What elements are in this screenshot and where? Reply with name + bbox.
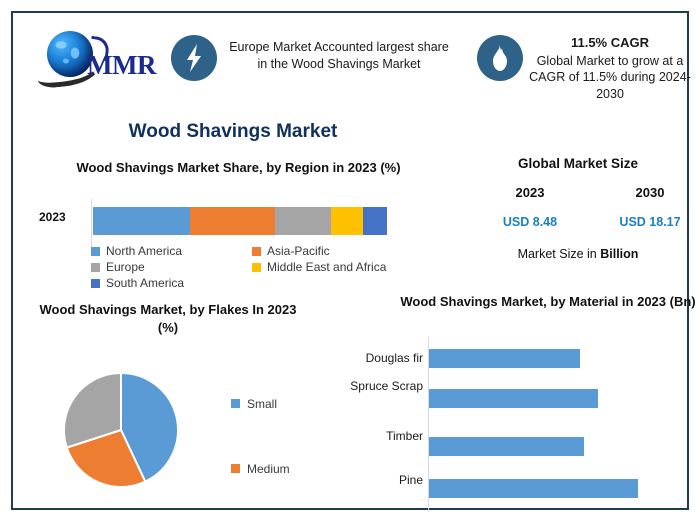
share-segment-middle-east-africa bbox=[331, 207, 363, 235]
gms-value-2030: USD 18.17 bbox=[605, 215, 695, 229]
global-market-size-title: Global Market Size bbox=[453, 156, 700, 171]
pie-legend-item-small: Small bbox=[231, 371, 290, 436]
brand-name: MMR bbox=[87, 50, 156, 81]
share-segment-south-america bbox=[363, 207, 387, 235]
material-bar-douglas-fir bbox=[429, 349, 580, 368]
legend-item-middle-east-africa: Middle East and Africa bbox=[252, 260, 413, 274]
infographic-page: MMR Europe Market Accounted largest shar… bbox=[0, 0, 700, 521]
lightning-bolt-icon bbox=[171, 35, 217, 81]
legend-item-south-america: South America bbox=[91, 276, 252, 290]
share-chart-category-label: 2023 bbox=[39, 210, 66, 224]
flakes-pie-chart bbox=[61, 370, 181, 490]
gms-year-2023-label: 2023 bbox=[485, 185, 575, 200]
legend-swatch-asia-pacific bbox=[252, 247, 261, 256]
legend-swatch-south-america bbox=[91, 279, 100, 288]
pie-legend-swatch-medium bbox=[231, 464, 240, 473]
legend-item-europe: Europe bbox=[91, 260, 252, 274]
legend-swatch-north-america bbox=[91, 247, 100, 256]
gms-unit-bold: Billion bbox=[600, 247, 638, 261]
legend-item-north-america: North America bbox=[91, 244, 252, 258]
gms-unit-note: Market Size in Billion bbox=[453, 247, 700, 261]
share-chart-legend: North America Asia-Pacific Europe Middle… bbox=[91, 244, 413, 292]
share-segment-europe bbox=[275, 207, 331, 235]
share-segment-north-america bbox=[93, 207, 190, 235]
gms-year-2030-label: 2030 bbox=[605, 185, 695, 200]
share-chart-title: Wood Shavings Market Share, by Region in… bbox=[61, 159, 416, 177]
gms-unit-prefix: Market Size in bbox=[518, 247, 601, 261]
material-label-timber: Timber bbox=[303, 429, 423, 444]
share-segment-asia-pacific bbox=[190, 207, 275, 235]
legend-label-asia-pacific: Asia-Pacific bbox=[267, 244, 330, 258]
pie-legend-swatch-small bbox=[231, 399, 240, 408]
legend-label-north-america: North America bbox=[106, 244, 182, 258]
material-bar-pine bbox=[429, 479, 638, 498]
header-badge-2: 11.5% CAGR Global Market to grow at a CA… bbox=[519, 35, 700, 102]
flakes-chart-legend: Small Medium Large bbox=[231, 371, 290, 521]
material-bar-timber bbox=[429, 437, 584, 456]
legend-swatch-middle-east-africa bbox=[252, 263, 261, 272]
material-chart-plot bbox=[428, 337, 688, 512]
flakes-chart-title: Wood Shavings Market, by Flakes In 2023 … bbox=[33, 301, 303, 337]
gms-value-2023: USD 8.48 bbox=[485, 215, 575, 229]
legend-label-europe: Europe bbox=[106, 260, 145, 274]
share-chart-axis bbox=[91, 199, 92, 247]
material-label-spruce-scrap: Spruce Scrap bbox=[303, 379, 423, 394]
pie-legend-item-large: Large bbox=[231, 501, 290, 521]
legend-item-asia-pacific: Asia-Pacific bbox=[252, 244, 413, 258]
page-title: Wood Shavings Market bbox=[13, 121, 453, 143]
material-bar-spruce-scrap bbox=[429, 389, 598, 408]
cagr-headline: 11.5% CAGR bbox=[519, 35, 700, 52]
cagr-description: Global Market to grow at a CAGR of 11.5%… bbox=[529, 54, 691, 101]
infographic-frame: MMR Europe Market Accounted largest shar… bbox=[11, 11, 689, 510]
legend-swatch-europe bbox=[91, 263, 100, 272]
material-label-douglas-fir: Douglas fir bbox=[303, 351, 423, 366]
pie-legend-item-medium: Medium bbox=[231, 436, 290, 501]
material-label-pine: Pine bbox=[303, 473, 423, 488]
pie-svg bbox=[61, 370, 181, 490]
legend-label-middle-east-africa: Middle East and Africa bbox=[267, 260, 386, 274]
pie-legend-label-medium: Medium bbox=[247, 462, 290, 476]
flame-icon bbox=[477, 35, 523, 81]
mmr-logo: MMR bbox=[35, 25, 165, 87]
legend-label-south-america: South America bbox=[106, 276, 184, 290]
material-chart-title: Wood Shavings Market, by Material in 202… bbox=[398, 293, 698, 311]
header-badge-1-text: Europe Market Accounted largest share in… bbox=[229, 39, 449, 73]
pie-legend-label-small: Small bbox=[247, 397, 277, 411]
legend-item-empty bbox=[252, 276, 413, 290]
share-chart-plot bbox=[91, 199, 391, 247]
